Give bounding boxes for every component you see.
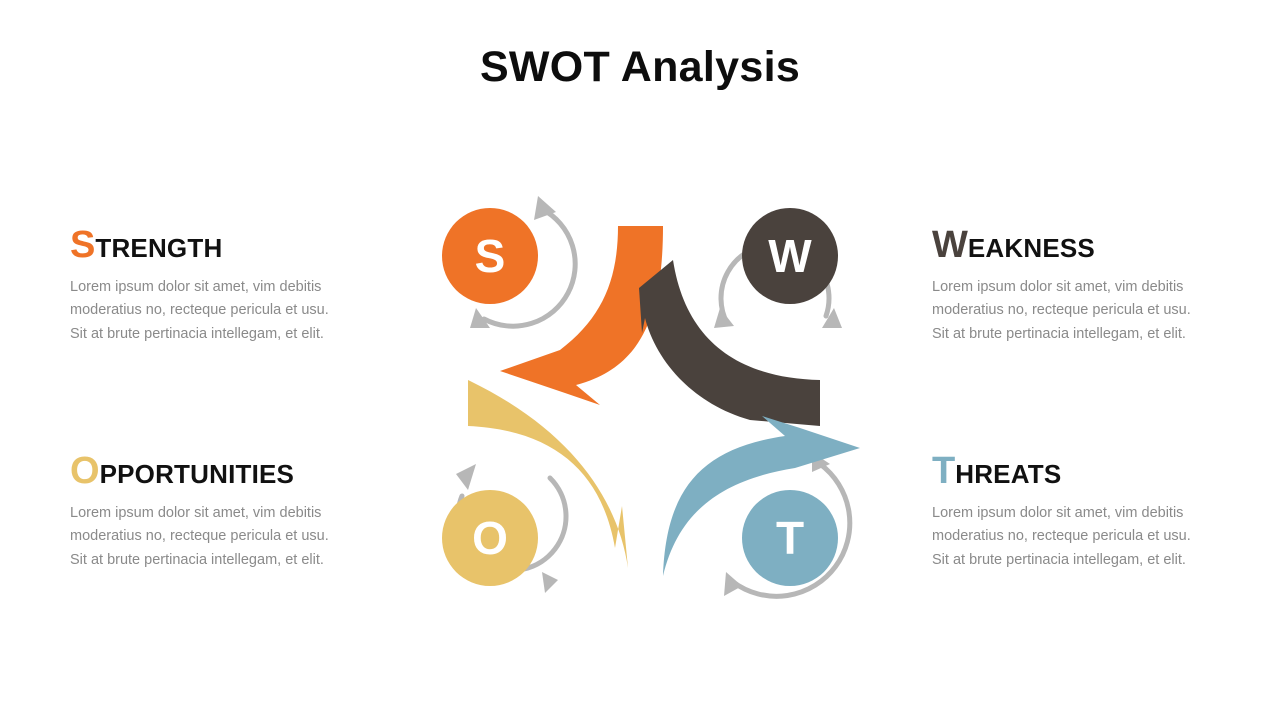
threats-body: Lorem ipsum dolor sit amet, vim debitis … [932,502,1222,572]
strength-initial: S [70,224,95,266]
s-node-letter: S [475,230,506,282]
weakness-heading: WEAKNESS [932,226,1222,264]
quadrant-threats: THREATS Lorem ipsum dolor sit amet, vim … [932,452,1222,572]
t-node-letter: T [776,512,804,564]
weakness-initial: W [932,224,968,266]
threats-heading-rest: HREATS [955,459,1061,489]
weakness-body-line-1: Lorem ipsum dolor sit amet, vim debitis [932,276,1222,299]
threats-initial: T [932,450,955,492]
o-node-letter: O [472,512,508,564]
threats-heading: THREATS [932,452,1222,490]
s-node[interactable]: S [442,208,538,304]
strength-body-line-3: Sit at brute pertinacia intellegam, et e… [70,323,360,346]
weakness-body: Lorem ipsum dolor sit amet, vim debitis … [932,276,1222,346]
page-title: SWOT Analysis [0,44,1280,91]
t-node[interactable]: T [742,490,838,586]
quadrant-strength: STRENGTH Lorem ipsum dolor sit amet, vim… [70,226,360,346]
opportunities-body-line-3: Sit at brute pertinacia intellegam, et e… [70,549,360,572]
w-node-letter: W [768,230,812,282]
strength-body: Lorem ipsum dolor sit amet, vim debitis … [70,276,360,346]
strength-heading-rest: TRENGTH [95,233,222,263]
strength-body-line-1: Lorem ipsum dolor sit amet, vim debitis [70,276,360,299]
opportunities-heading: OPPORTUNITIES [70,452,360,490]
strength-body-line-2: moderatius no, recteque pericula et usu. [70,299,360,322]
weakness-heading-rest: EAKNESS [968,233,1095,263]
swot-pinwheel-diagram: S W O T [390,168,890,630]
opportunities-body-line-1: Lorem ipsum dolor sit amet, vim debitis [70,502,360,525]
opportunities-heading-rest: PPORTUNITIES [100,459,295,489]
threats-body-line-3: Sit at brute pertinacia intellegam, et e… [932,549,1222,572]
opportunities-body-line-2: moderatius no, recteque pericula et usu. [70,525,360,548]
strength-heading: STRENGTH [70,226,360,264]
quadrant-weakness: WEAKNESS Lorem ipsum dolor sit amet, vim… [932,226,1222,346]
opportunities-body: Lorem ipsum dolor sit amet, vim debitis … [70,502,360,572]
opportunities-initial: O [70,450,100,492]
threats-body-line-2: moderatius no, recteque pericula et usu. [932,525,1222,548]
weakness-body-line-3: Sit at brute pertinacia intellegam, et e… [932,323,1222,346]
o-node[interactable]: O [442,490,538,586]
w-node[interactable]: W [742,208,838,304]
weakness-body-line-2: moderatius no, recteque pericula et usu. [932,299,1222,322]
quadrant-opportunities: OPPORTUNITIES Lorem ipsum dolor sit amet… [70,452,360,572]
threats-body-line-1: Lorem ipsum dolor sit amet, vim debitis [932,502,1222,525]
